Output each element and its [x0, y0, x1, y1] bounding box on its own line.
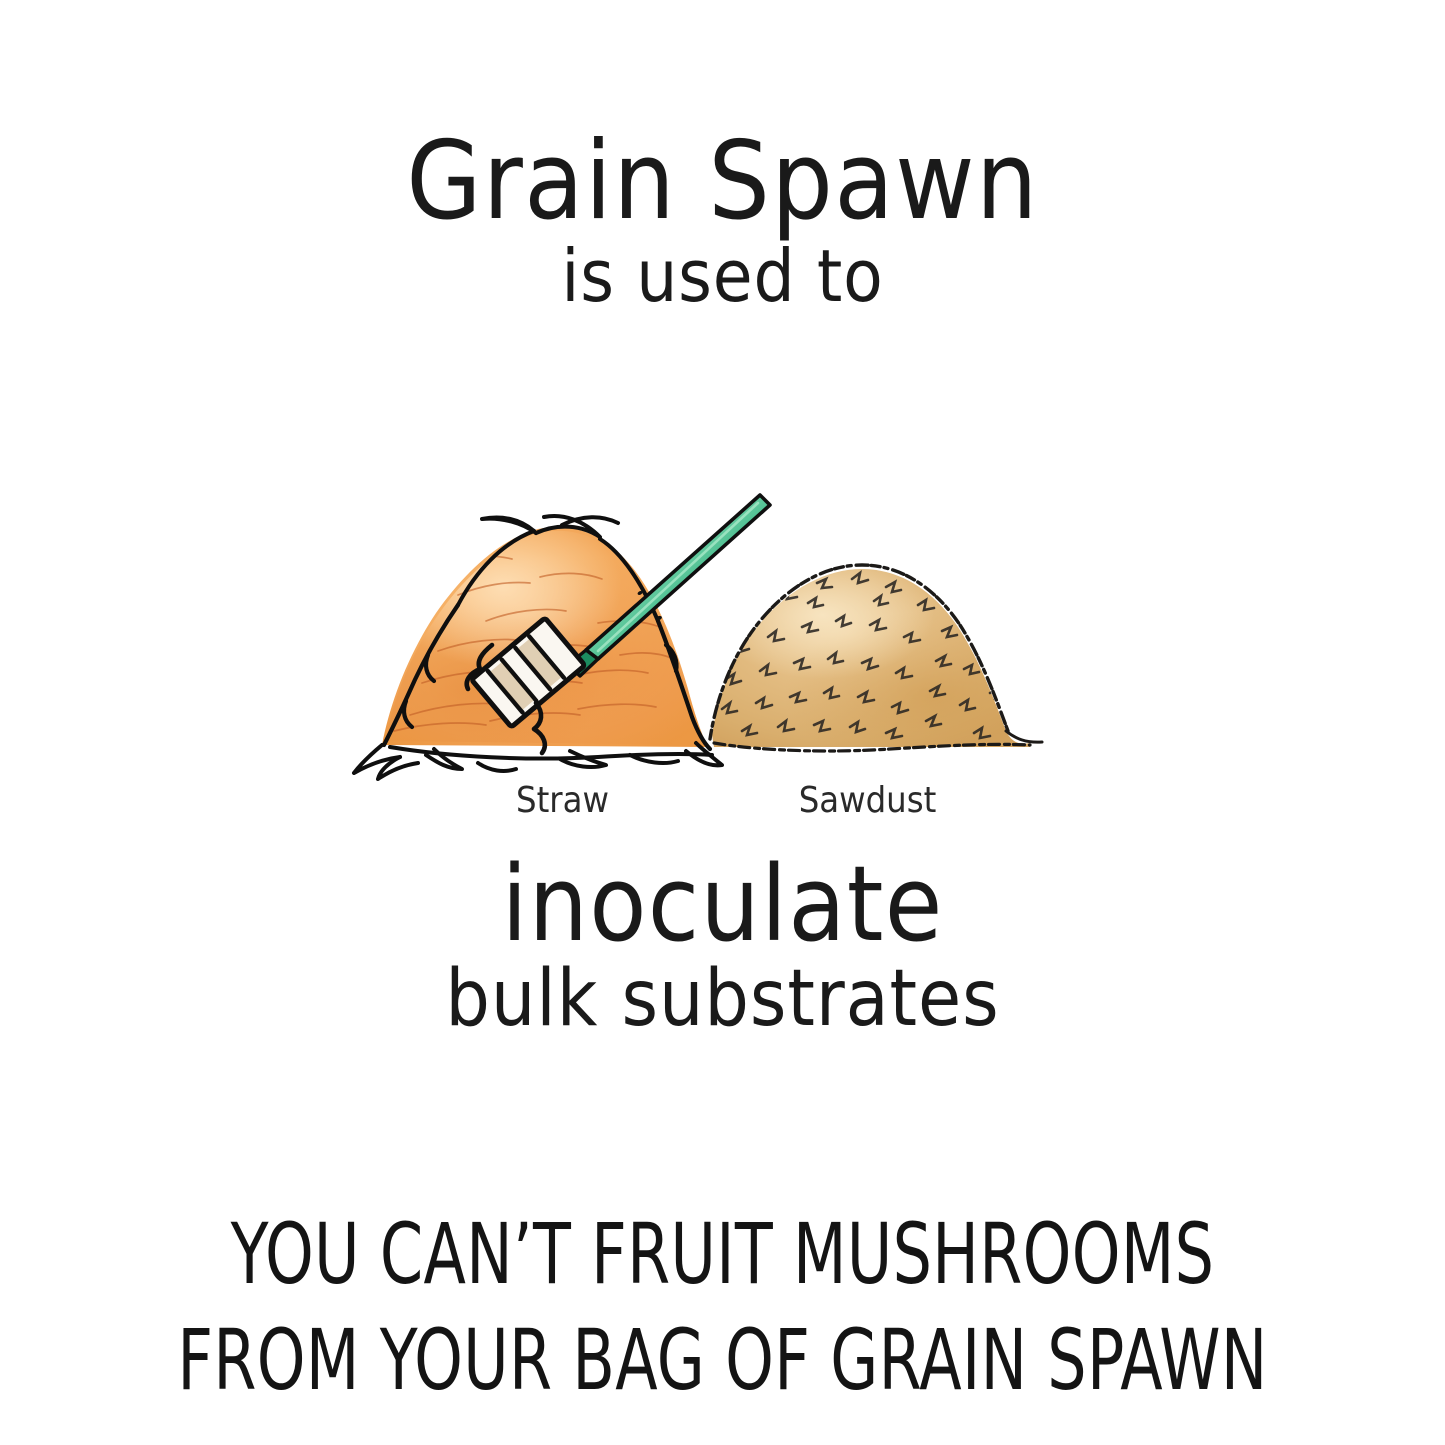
middle-emphasis-text: inoculate: [0, 852, 1445, 956]
footer-line-1: YOU CAN’T FRUIT MUSHROOMS: [130, 1212, 1315, 1296]
sawdust-pile: [700, 555, 1050, 755]
footer-line-2: FROM YOUR BAG OF GRAIN SPAWN: [130, 1318, 1315, 1402]
substrate-illustration: [330, 455, 1090, 800]
page-subtitle: is used to: [0, 240, 1445, 312]
label-straw: Straw: [455, 780, 670, 821]
label-sawdust: Sawdust: [755, 780, 980, 821]
middle-support-text: bulk substrates: [0, 960, 1445, 1038]
page-title: Grain Spawn: [0, 128, 1445, 236]
poster-canvas: Grain Spawn is used to: [0, 0, 1445, 1445]
